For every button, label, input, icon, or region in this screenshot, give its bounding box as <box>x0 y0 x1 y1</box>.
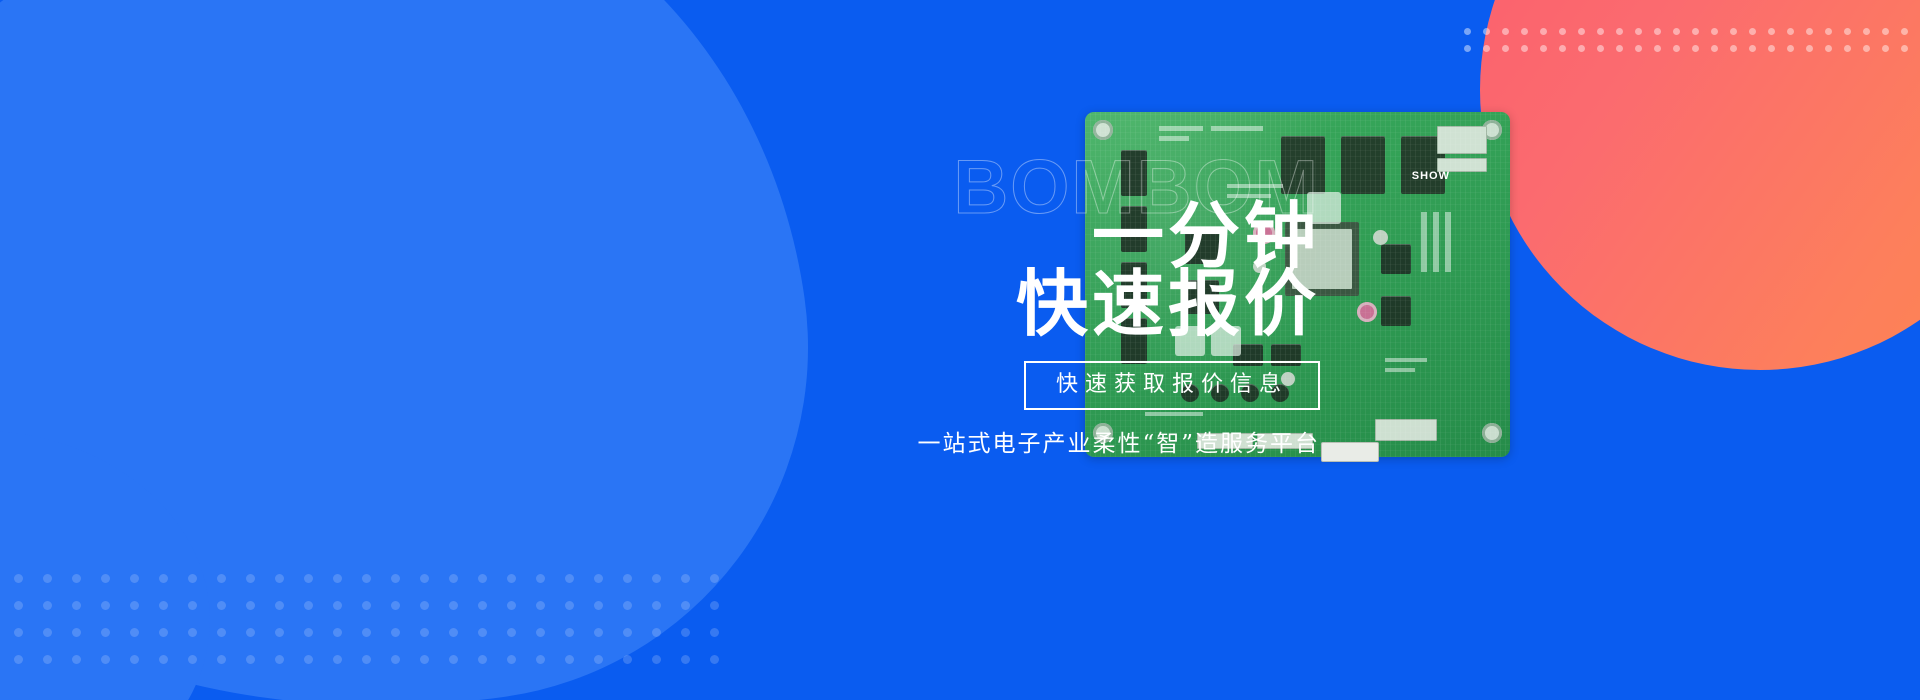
dot <box>449 601 458 610</box>
dot <box>565 655 574 664</box>
dot <box>43 601 52 610</box>
dot <box>420 655 429 664</box>
dot <box>188 628 197 637</box>
dot <box>1597 28 1604 35</box>
dot <box>536 628 545 637</box>
headline-line-2: 快速报价 <box>640 270 1320 338</box>
dot <box>14 601 23 610</box>
dot <box>101 655 110 664</box>
dot <box>391 601 400 610</box>
dot <box>159 601 168 610</box>
dot <box>72 655 81 664</box>
dot <box>1635 28 1642 35</box>
dot <box>1635 45 1642 52</box>
dot <box>130 574 139 583</box>
dot <box>507 628 516 637</box>
dot <box>304 601 313 610</box>
dot <box>1578 45 1585 52</box>
dot <box>565 628 574 637</box>
dot <box>1711 45 1718 52</box>
dot <box>449 574 458 583</box>
dot <box>275 655 284 664</box>
dot <box>1464 45 1471 52</box>
dot <box>275 601 284 610</box>
dot <box>246 655 255 664</box>
dot <box>362 628 371 637</box>
dot <box>1882 28 1889 35</box>
dot <box>72 574 81 583</box>
dot <box>594 628 603 637</box>
dot <box>478 574 487 583</box>
dot <box>1673 45 1680 52</box>
dot <box>681 601 690 610</box>
dot <box>246 601 255 610</box>
dot <box>536 574 545 583</box>
dot <box>188 574 197 583</box>
dot <box>1464 28 1471 35</box>
dot <box>681 574 690 583</box>
dot <box>159 574 168 583</box>
headline-block: BOMBOM 一分钟 快速报价 快速获取报价信息 一站式电子产业柔性“智”造服务… <box>640 150 1320 458</box>
dot <box>1882 45 1889 52</box>
dot <box>594 574 603 583</box>
dot <box>420 601 429 610</box>
dot <box>130 628 139 637</box>
dot <box>130 655 139 664</box>
dot <box>652 601 661 610</box>
dot <box>14 574 23 583</box>
dot-grid-top-row <box>1464 45 1920 62</box>
dot <box>217 574 226 583</box>
dot <box>130 601 139 610</box>
dot <box>565 574 574 583</box>
dot <box>652 655 661 664</box>
get-quote-button[interactable]: 快速获取报价信息 <box>1024 361 1320 410</box>
dot <box>1540 45 1547 52</box>
dot <box>159 655 168 664</box>
dot <box>478 601 487 610</box>
dot <box>1521 28 1528 35</box>
dot <box>72 628 81 637</box>
dot <box>43 574 52 583</box>
dot <box>1825 28 1832 35</box>
dot <box>1787 45 1794 52</box>
dot <box>710 655 719 664</box>
dot <box>275 628 284 637</box>
dot <box>710 574 719 583</box>
dot <box>1540 28 1547 35</box>
dot <box>1502 45 1509 52</box>
dot <box>594 601 603 610</box>
dot <box>246 574 255 583</box>
dot <box>391 655 400 664</box>
dot <box>652 574 661 583</box>
dot <box>1730 28 1737 35</box>
dot <box>1749 45 1756 52</box>
dot <box>1692 28 1699 35</box>
dot <box>1863 28 1870 35</box>
dot <box>1901 28 1908 35</box>
dot <box>1578 28 1585 35</box>
dot <box>1768 28 1775 35</box>
dot <box>1711 28 1718 35</box>
dot <box>304 655 313 664</box>
dot <box>43 655 52 664</box>
dot <box>1483 45 1490 52</box>
dot <box>1844 45 1851 52</box>
dot <box>1483 28 1490 35</box>
dot <box>391 628 400 637</box>
dot <box>1863 45 1870 52</box>
dot <box>623 574 632 583</box>
dot <box>1806 45 1813 52</box>
dot <box>623 655 632 664</box>
dot <box>333 628 342 637</box>
dot <box>1502 28 1509 35</box>
dot <box>1597 45 1604 52</box>
dot-grid-bottom-row <box>14 628 739 655</box>
dot-grid-bottom-row <box>14 601 739 628</box>
dot <box>1768 45 1775 52</box>
dot <box>333 574 342 583</box>
headline-line-1: 一分钟 <box>640 150 1320 270</box>
dot <box>217 655 226 664</box>
dot <box>1521 45 1528 52</box>
dot <box>710 628 719 637</box>
dot <box>1654 45 1661 52</box>
dot <box>1616 45 1623 52</box>
dot <box>1787 28 1794 35</box>
dot <box>623 601 632 610</box>
dot <box>217 601 226 610</box>
dot <box>1806 28 1813 35</box>
dot <box>449 655 458 664</box>
pcb-bottom-tab <box>1321 442 1379 462</box>
dot <box>1559 28 1566 35</box>
dot <box>565 601 574 610</box>
dot-grid-bottom-row <box>14 655 739 682</box>
page-title: 一分钟 快速报价 <box>640 150 1320 339</box>
dot <box>1901 45 1908 52</box>
dot <box>420 574 429 583</box>
dot <box>391 574 400 583</box>
dot <box>710 601 719 610</box>
dot <box>333 601 342 610</box>
pcb-silk-label: SHOW <box>1412 170 1450 182</box>
dot <box>623 628 632 637</box>
dot <box>478 628 487 637</box>
dot <box>1825 45 1832 52</box>
dot <box>681 628 690 637</box>
dot <box>536 655 545 664</box>
dot <box>1673 28 1680 35</box>
dot-grid-top-right <box>1464 28 1920 62</box>
dot <box>101 628 110 637</box>
dot <box>101 601 110 610</box>
dot-grid-top-row <box>1464 28 1920 45</box>
tagline: 一站式电子产业柔性“智”造服务平台 <box>640 424 1320 458</box>
dot <box>362 574 371 583</box>
dot <box>536 601 545 610</box>
dot <box>275 574 284 583</box>
dot <box>43 628 52 637</box>
dot <box>14 655 23 664</box>
dot <box>478 655 487 664</box>
promo-banner: SHOW BOMBOM 一分钟 快速报价 快速获取报价信息 一站式电子产业柔性“… <box>0 0 1920 700</box>
dot <box>1844 28 1851 35</box>
dot <box>246 628 255 637</box>
dot <box>507 601 516 610</box>
dot <box>1730 45 1737 52</box>
dot <box>1654 28 1661 35</box>
dot-grid-bottom-left <box>14 574 739 682</box>
dot <box>507 574 516 583</box>
dot <box>101 574 110 583</box>
dot <box>362 655 371 664</box>
dot <box>652 628 661 637</box>
dot-grid-bottom-row <box>14 574 739 601</box>
dot <box>159 628 168 637</box>
dot <box>1749 28 1756 35</box>
dot <box>1616 28 1623 35</box>
dot <box>304 628 313 637</box>
dot <box>188 601 197 610</box>
dot <box>681 655 690 664</box>
dot <box>72 601 81 610</box>
dot <box>420 628 429 637</box>
dot <box>188 655 197 664</box>
dot <box>1559 45 1566 52</box>
dot <box>333 655 342 664</box>
dot <box>14 628 23 637</box>
dot <box>304 574 313 583</box>
dot <box>594 655 603 664</box>
dot <box>507 655 516 664</box>
dot <box>217 628 226 637</box>
dot <box>449 628 458 637</box>
dot <box>1692 45 1699 52</box>
dot <box>362 601 371 610</box>
